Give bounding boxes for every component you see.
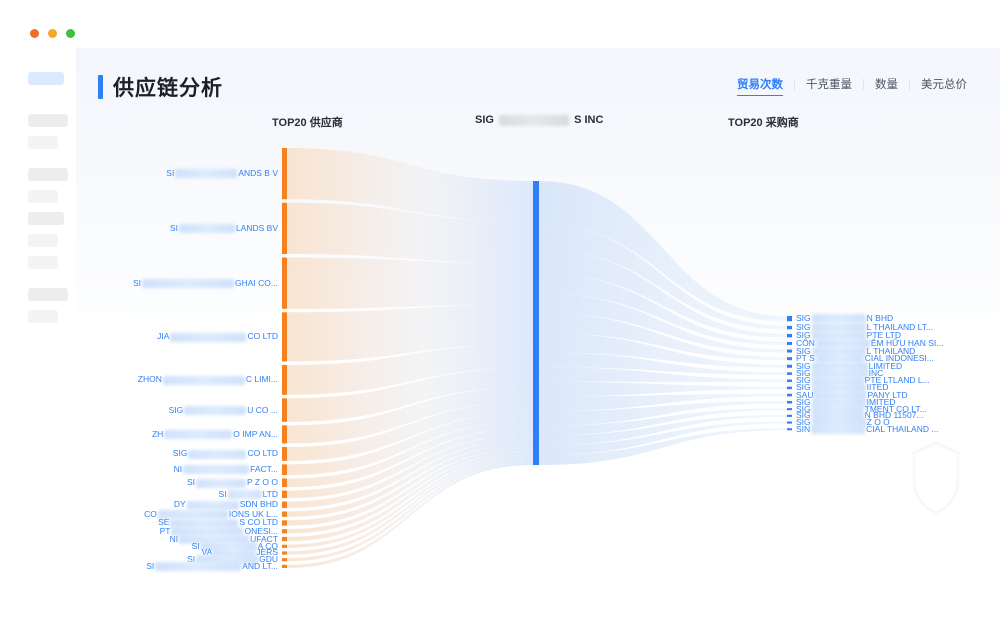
supplier-node-6[interactable]	[282, 398, 287, 421]
buyer-node-12[interactable]	[787, 401, 792, 404]
buyer-node-13[interactable]	[787, 408, 792, 410]
sidebar-item-6[interactable]	[28, 212, 64, 225]
supplier-node-4[interactable]	[282, 312, 287, 361]
sidebar-item-1[interactable]	[28, 72, 64, 85]
sidebar-item-3[interactable]	[28, 136, 58, 149]
sankey-diagram	[76, 48, 1000, 589]
supplier-node-10[interactable]	[282, 479, 287, 488]
sidebar	[0, 48, 76, 629]
sidebar-item-4[interactable]	[28, 168, 68, 181]
supplier-node-5[interactable]	[282, 365, 287, 395]
minimize-icon[interactable]	[48, 29, 57, 38]
supplier-node-16[interactable]	[282, 537, 287, 541]
app-window: 供应链分析 贸易次数千克重量数量美元总价 TOP20 供应商 SIG S INC…	[0, 0, 1000, 629]
supplier-node-7[interactable]	[282, 425, 287, 443]
watermark-icon	[906, 439, 966, 517]
buyer-node-1[interactable]	[787, 316, 792, 321]
buyer-node-15[interactable]	[787, 422, 792, 424]
center-node[interactable]	[533, 181, 539, 465]
supplier-node-20[interactable]	[282, 565, 287, 568]
supplier-node-14[interactable]	[282, 520, 287, 525]
sidebar-item-8[interactable]	[28, 256, 58, 269]
sidebar-item-7[interactable]	[28, 234, 58, 247]
supplier-node-2[interactable]	[282, 203, 287, 254]
buyer-node-2[interactable]	[787, 326, 792, 329]
buyer-node-9[interactable]	[787, 380, 792, 383]
window-controls	[30, 29, 75, 38]
supplier-node-18[interactable]	[282, 551, 287, 554]
main-panel: 供应链分析 贸易次数千克重量数量美元总价 TOP20 供应商 SIG S INC…	[76, 48, 1000, 589]
buyer-node-11[interactable]	[787, 394, 792, 397]
supplier-node-15[interactable]	[282, 529, 287, 533]
supplier-node-9[interactable]	[282, 464, 287, 475]
maximize-icon[interactable]	[66, 29, 75, 38]
buyer-node-6[interactable]	[787, 357, 792, 360]
buyer-node-16[interactable]	[787, 428, 792, 430]
supplier-node-12[interactable]	[282, 502, 287, 508]
buyer-node-4[interactable]	[787, 342, 792, 345]
buyer-node-5[interactable]	[787, 350, 792, 353]
buyer-node-3[interactable]	[787, 334, 792, 337]
sankey-link	[287, 258, 533, 309]
supplier-node-13[interactable]	[282, 511, 287, 516]
supplier-node-1[interactable]	[282, 148, 287, 199]
sidebar-item-10[interactable]	[28, 310, 58, 323]
buyer-node-14[interactable]	[787, 415, 792, 417]
supplier-node-3[interactable]	[282, 258, 287, 309]
buyer-node-8[interactable]	[787, 372, 792, 375]
supplier-node-19[interactable]	[282, 558, 287, 561]
supplier-node-17[interactable]	[282, 545, 287, 548]
supplier-node-8[interactable]	[282, 447, 287, 461]
buyer-node-7[interactable]	[787, 365, 792, 368]
supplier-node-11[interactable]	[282, 491, 287, 498]
buyer-node-10[interactable]	[787, 387, 792, 390]
sidebar-item-9[interactable]	[28, 288, 68, 301]
sidebar-item-2[interactable]	[28, 114, 68, 127]
close-icon[interactable]	[30, 29, 39, 38]
sidebar-item-5[interactable]	[28, 190, 58, 203]
